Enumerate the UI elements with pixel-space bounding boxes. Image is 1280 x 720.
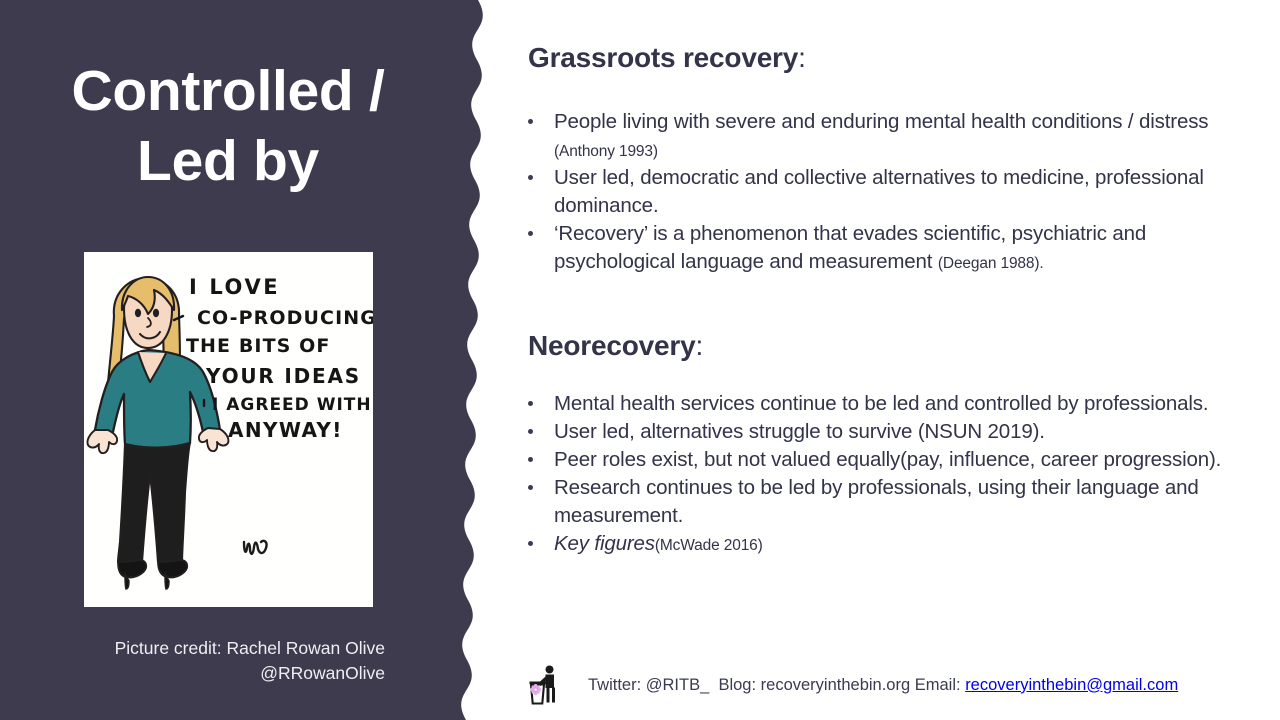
bullet-text: Peer roles exist, but not valued equally… — [554, 448, 1221, 471]
bullet-text: People living with severe and enduring m… — [554, 110, 1208, 133]
footer: Twitter: @RITB_ Blog: recoveryinthebin.o… — [520, 662, 1280, 708]
bullet-text: Mental health services continue to be le… — [554, 392, 1208, 415]
list-item: Peer roles exist, but not valued equally… — [520, 446, 1265, 474]
page-title-line-2: Led by — [18, 127, 438, 197]
svg-text:THE BITS OF: THE BITS OF — [186, 335, 331, 357]
section-heading-neorecovery: Neorecovery: — [528, 331, 703, 362]
bullet-list-grassroots: People living with severe and enduring m… — [520, 108, 1265, 276]
footer-contact-text: Twitter: @RITB_ Blog: recoveryinthebin.o… — [588, 676, 1178, 695]
cartoon-illustration: I LOVE CO-PRODUCING THE BITS OF YOUR IDE… — [84, 252, 373, 607]
slide-body: Grassroots recovery: People living with … — [520, 0, 1280, 720]
svg-text:YOUR IDEAS: YOUR IDEAS — [205, 364, 361, 388]
bullet-citation: (McWade 2016) — [655, 537, 763, 554]
bullet-text: Research continues to be led by professi… — [554, 476, 1199, 527]
bullet-list-neorecovery: Mental health services continue to be le… — [520, 390, 1265, 558]
bullet-text: User led, democratic and collective alte… — [554, 166, 1204, 217]
section-heading-grassroots-text: Grassroots recovery — [528, 42, 798, 73]
bullet-text: ‘Recovery’ is a phenomenon that evades s… — [554, 222, 1146, 273]
bullet-citation: (Anthony 1993) — [554, 143, 658, 160]
section-heading-neorecovery-colon: : — [695, 330, 703, 361]
footer-email-label: Email: — [915, 676, 961, 694]
section-heading-neorecovery-text: Neorecovery — [528, 330, 695, 361]
list-item: ‘Recovery’ is a phenomenon that evades s… — [520, 220, 1265, 276]
footer-twitter: Twitter: @RITB_ — [588, 676, 709, 694]
section-heading-grassroots-colon: : — [798, 42, 806, 73]
list-item: People living with severe and enduring m… — [520, 108, 1265, 164]
svg-text:I LOVE: I LOVE — [189, 275, 280, 299]
section-heading-grassroots: Grassroots recovery: — [528, 43, 806, 74]
picture-credit-line-2: @RRowanOlive — [20, 661, 385, 686]
list-item: User led, alternatives struggle to survi… — [520, 418, 1265, 446]
picture-credit-line-1: Picture credit: Rachel Rowan Olive — [20, 636, 385, 661]
footer-blog: Blog: recoveryinthebin.org — [718, 676, 910, 694]
recovery-in-the-bin-logo — [528, 664, 562, 706]
list-item: User led, democratic and collective alte… — [520, 164, 1265, 220]
page-title-line-1: Controlled / — [18, 57, 438, 127]
bullet-text-italic: Key figures — [554, 532, 655, 555]
svg-text:ANYWAY!: ANYWAY! — [228, 418, 343, 442]
bullet-citation: (Deegan 1988). — [938, 255, 1044, 272]
list-item: Mental health services continue to be le… — [520, 390, 1265, 418]
picture-credit: Picture credit: Rachel Rowan Olive @RRow… — [20, 636, 385, 687]
bullet-text: User led, alternatives struggle to survi… — [554, 420, 1045, 443]
svg-text:I AGREED WITH: I AGREED WITH — [212, 395, 372, 415]
svg-text:CO-PRODUCING: CO-PRODUCING — [197, 307, 373, 329]
cartoon-artwork: I LOVE CO-PRODUCING THE BITS OF YOUR IDE… — [84, 252, 373, 607]
footer-email-link[interactable]: recoveryinthebin@gmail.com — [965, 676, 1178, 694]
list-item: Research continues to be led by professi… — [520, 474, 1265, 530]
list-item: Key figures(McWade 2016) — [520, 530, 1265, 558]
page-title: Controlled / Led by — [18, 57, 438, 196]
